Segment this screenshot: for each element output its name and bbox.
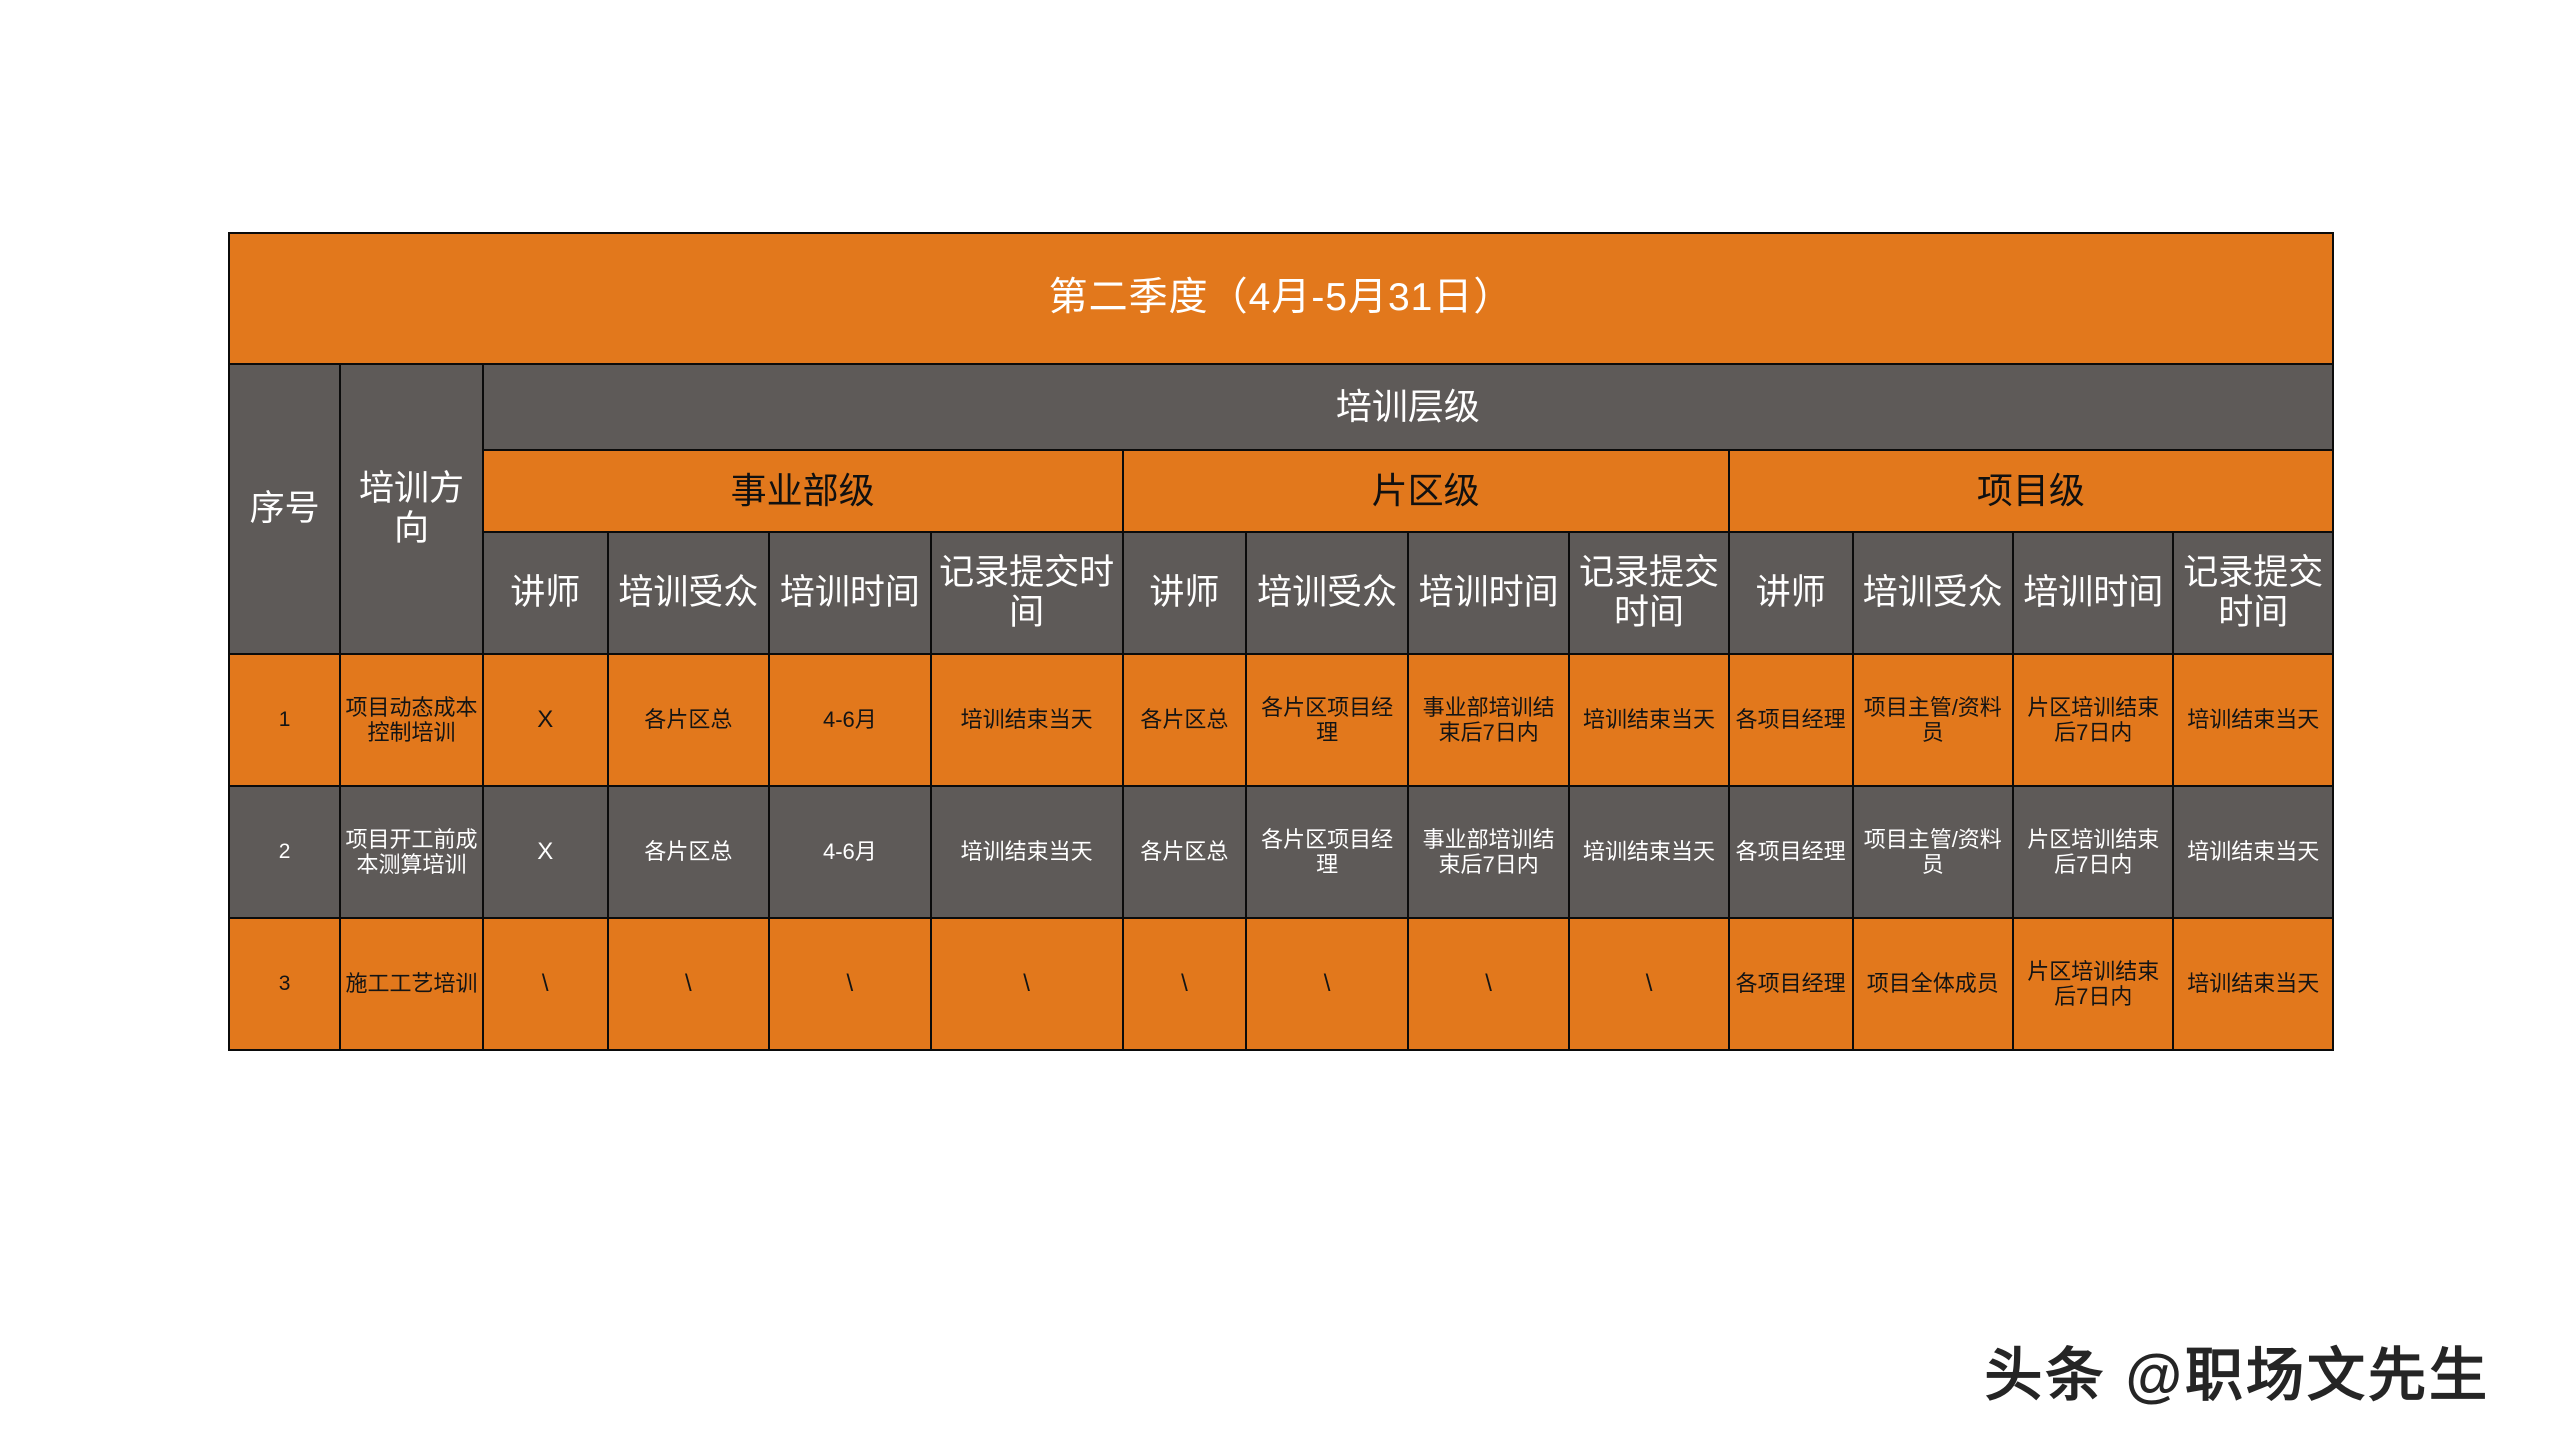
subheader-dist-time: 培训时间 (1408, 532, 1570, 654)
subheader-dist-lecturer: 讲师 (1123, 532, 1247, 654)
row-direction: 项目动态成本控制培训 (340, 654, 483, 786)
cell-bu-lecturer: X (483, 786, 608, 918)
cell-dist-submit-time: \ (1569, 918, 1728, 1050)
watermark-text: 头条 @职场文先生 (1984, 1328, 2490, 1412)
subheader-proj-lecturer: 讲师 (1729, 532, 1853, 654)
column-header-index: 序号 (229, 364, 340, 654)
cell-dist-lecturer: 各片区总 (1123, 786, 1247, 918)
cell-bu-audience: 各片区总 (608, 786, 770, 918)
cell-proj-time: 片区培训结束后7日内 (2013, 786, 2173, 918)
subheader-proj-audience: 培训受众 (1853, 532, 2013, 654)
cell-bu-time: \ (769, 918, 931, 1050)
row-direction: 项目开工前成本测算培训 (340, 786, 483, 918)
cell-proj-time: 片区培训结束后7日内 (2013, 654, 2173, 786)
cell-proj-audience: 项目全体成员 (1853, 918, 2013, 1050)
cell-proj-lecturer: 各项目经理 (1729, 786, 1853, 918)
cell-dist-submit-time: 培训结束当天 (1569, 654, 1728, 786)
cell-proj-audience: 项目主管/资料员 (1853, 786, 2013, 918)
subheader-bu-lecturer: 讲师 (483, 532, 608, 654)
table-row: 2 项目开工前成本测算培训 X 各片区总 4-6月 培训结束当天 各片区总 各片… (229, 786, 2333, 918)
row-index: 2 (229, 786, 340, 918)
cell-dist-submit-time: 培训结束当天 (1569, 786, 1728, 918)
cell-bu-lecturer: X (483, 654, 608, 786)
table-row: 1 项目动态成本控制培训 X 各片区总 4-6月 培训结束当天 各片区总 各片区… (229, 654, 2333, 786)
header-subcolumn-row: 讲师 培训受众 培训时间 记录提交时间 讲师 培训受众 培训时间 记录提交时间 … (229, 532, 2333, 654)
cell-proj-time: 片区培训结束后7日内 (2013, 918, 2173, 1050)
subheader-proj-time: 培训时间 (2013, 532, 2173, 654)
header-toplevel-row: 序号 培训方向 培训层级 (229, 364, 2333, 450)
page-title: 第二季度（4月-5月31日） (229, 233, 2333, 364)
cell-dist-audience: 各片区项目经理 (1246, 786, 1408, 918)
cell-proj-submit-time: 培训结束当天 (2173, 786, 2333, 918)
cell-dist-time: \ (1408, 918, 1570, 1050)
cell-dist-lecturer: 各片区总 (1123, 654, 1247, 786)
column-group-district: 片区级 (1123, 450, 1729, 532)
cell-dist-audience: 各片区项目经理 (1246, 654, 1408, 786)
subheader-bu-audience: 培训受众 (608, 532, 770, 654)
cell-dist-lecturer: \ (1123, 918, 1247, 1050)
cell-bu-time: 4-6月 (769, 786, 931, 918)
cell-proj-audience: 项目主管/资料员 (1853, 654, 2013, 786)
cell-bu-audience: \ (608, 918, 770, 1050)
table-row: 3 施工工艺培训 \ \ \ \ \ \ \ \ 各项目经理 项目全体成员 片区… (229, 918, 2333, 1050)
row-index: 1 (229, 654, 340, 786)
subheader-bu-submit-time: 记录提交时间 (931, 532, 1123, 654)
cell-proj-lecturer: 各项目经理 (1729, 918, 1853, 1050)
cell-proj-submit-time: 培训结束当天 (2173, 654, 2333, 786)
column-group-business-unit: 事业部级 (483, 450, 1123, 532)
column-header-direction: 培训方向 (340, 364, 483, 654)
cell-dist-time: 事业部培训结束后7日内 (1408, 786, 1570, 918)
row-index: 3 (229, 918, 340, 1050)
row-direction: 施工工艺培训 (340, 918, 483, 1050)
cell-dist-time: 事业部培训结束后7日内 (1408, 654, 1570, 786)
cell-proj-lecturer: 各项目经理 (1729, 654, 1853, 786)
table-title-row: 第二季度（4月-5月31日） (229, 233, 2333, 364)
cell-bu-submit-time: 培训结束当天 (931, 654, 1123, 786)
subheader-dist-submit-time: 记录提交时间 (1569, 532, 1728, 654)
column-group-project: 项目级 (1729, 450, 2333, 532)
cell-bu-time: 4-6月 (769, 654, 931, 786)
cell-dist-audience: \ (1246, 918, 1408, 1050)
header-group-row: 事业部级 片区级 项目级 (229, 450, 2333, 532)
subheader-bu-time: 培训时间 (769, 532, 931, 654)
cell-bu-submit-time: 培训结束当天 (931, 786, 1123, 918)
subheader-proj-submit-time: 记录提交时间 (2173, 532, 2333, 654)
page-root: 第二季度（4月-5月31日） 序号 培训方向 培训层级 事业部级 片区级 项目级… (0, 0, 2560, 1440)
cell-proj-submit-time: 培训结束当天 (2173, 918, 2333, 1050)
cell-bu-submit-time: \ (931, 918, 1123, 1050)
training-plan-table: 第二季度（4月-5月31日） 序号 培训方向 培训层级 事业部级 片区级 项目级… (228, 232, 2334, 1051)
cell-bu-lecturer: \ (483, 918, 608, 1050)
subheader-dist-audience: 培训受众 (1246, 532, 1408, 654)
column-header-training-level: 培训层级 (483, 364, 2333, 450)
cell-bu-audience: 各片区总 (608, 654, 770, 786)
